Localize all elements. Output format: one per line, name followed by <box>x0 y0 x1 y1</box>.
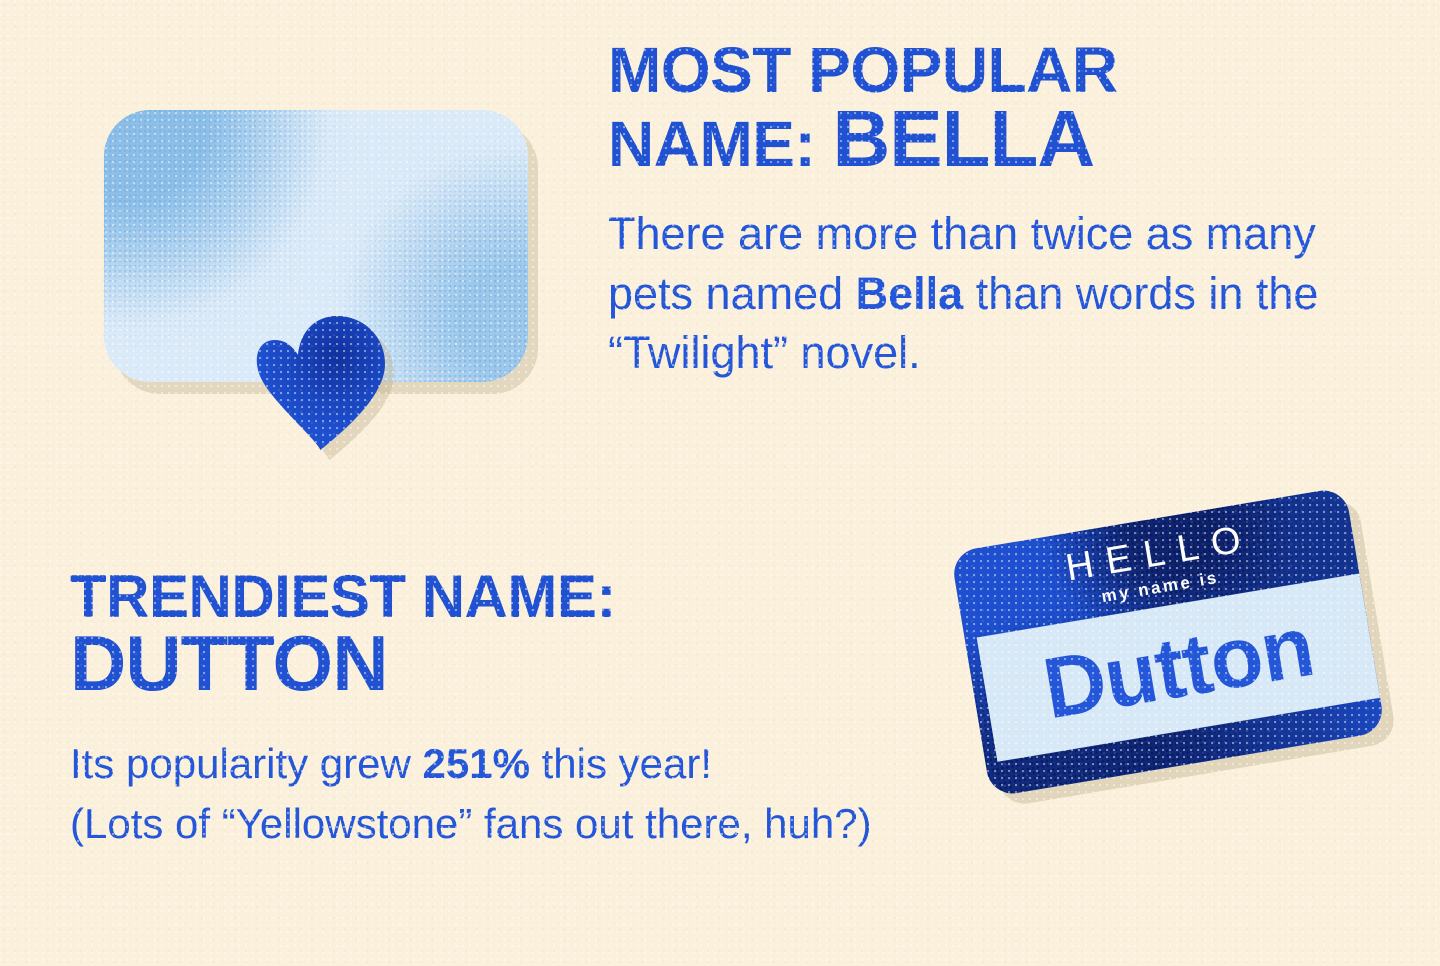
trendiest-body: Its popularity grew 251% this year! (Lot… <box>70 734 900 853</box>
trendiest-name-value: DUTTON <box>70 619 388 707</box>
most-popular-body-highlight: Bella <box>856 268 964 319</box>
most-popular-body: There are more than twice as many pets n… <box>608 204 1368 382</box>
trendiest-body-highlight: 251% <box>423 740 530 787</box>
trendiest-heading: TRENDIEST NAME: DUTTON <box>70 568 900 700</box>
speech-bubble-graphic <box>104 110 534 390</box>
section-most-popular-name: MOST POPULAR NAME: BELLA There are more … <box>608 40 1368 382</box>
name-badge-graphic: HELLO my name is Dutton <box>950 487 1385 798</box>
most-popular-heading: MOST POPULAR NAME: BELLA <box>608 40 1368 178</box>
trendiest-body-part1: Its popularity grew <box>70 740 423 787</box>
heart-tail-icon <box>253 310 388 450</box>
infographic-canvas: MOST POPULAR NAME: BELLA There are more … <box>0 0 1440 966</box>
most-popular-name-value: BELLA <box>833 94 1095 183</box>
most-popular-heading-prefix: NAME: <box>608 108 815 180</box>
trendiest-body-line2: (Lots of “Yellowstone” fans out there, h… <box>70 800 872 847</box>
badge-name-value: Dutton <box>1038 603 1319 733</box>
section-trendiest-name: TRENDIEST NAME: DUTTON Its popularity gr… <box>70 568 900 854</box>
trendiest-body-part2: this year! <box>530 740 712 787</box>
